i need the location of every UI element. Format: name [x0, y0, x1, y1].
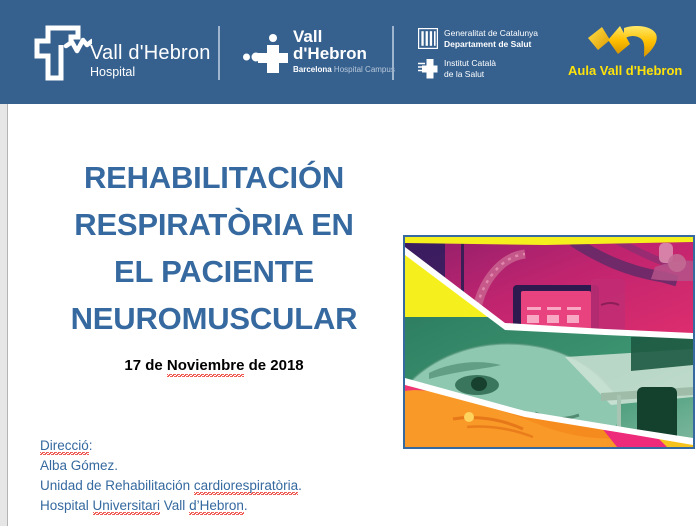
title-line-3: EL PACIENTE: [40, 248, 388, 295]
credits-text: Alba Gómez.: [40, 458, 118, 473]
document-left-gutter: [0, 104, 8, 526]
logo-ics-text: Institut Català de la Salut: [444, 58, 496, 79]
date-misspelled-word: Noviembre: [167, 357, 245, 377]
credits-text: .: [244, 498, 248, 513]
credits-misspelled-word: Direcció: [40, 438, 89, 455]
credits-text: .: [298, 478, 302, 493]
credits-line: Unidad de Rehabilitación cardiorespiratò…: [40, 476, 302, 496]
logo-vall-hebron-hospital: Vall d'Hebron Hospital: [32, 24, 204, 86]
credits-text: :: [89, 438, 93, 453]
date-prefix: 17 de: [124, 357, 167, 374]
logo-vhc-line2: d'Hebron: [293, 45, 367, 62]
dotted-cross-icon: [243, 32, 291, 76]
logo-vhc-sub-bold: Barcelona: [293, 65, 332, 74]
slide-canvas: REHABILITACIÓN RESPIRATÒRIA EN EL PACIEN…: [8, 104, 696, 526]
event-date: 17 de Noviembre de 2018: [40, 357, 388, 374]
torn-collage-photo: [403, 235, 695, 449]
credits-line: Hospital Universitari Vall d’Hebron.: [40, 496, 302, 516]
credits-text: Hospital: [40, 498, 93, 513]
logo-vhh-line2: Hospital: [90, 65, 135, 79]
logo-ics-line2: de la Salut: [444, 69, 484, 79]
logo-vhc-line1: Vall: [293, 28, 322, 45]
logo-institut-catala-salut: Institut Català de la Salut: [418, 58, 496, 79]
header-logo-bar: Vall d'Hebron Hospital Vall d'Hebron Bar…: [0, 0, 696, 104]
logo-vall-hebron-campus: Vall d'Hebron Barcelona Hospital Campus: [243, 26, 389, 82]
generalitat-bars-icon: [418, 28, 438, 49]
logo-vhc-subtitle: Barcelona Hospital Campus: [293, 65, 395, 74]
logo-separator-1: [218, 26, 220, 80]
logo-vhc-sub-light: Hospital Campus: [332, 65, 395, 74]
credits-misspelled-word: Universitari: [93, 498, 161, 515]
credits-misspelled-word: cardiorespiratòria: [194, 478, 298, 495]
credits-text: Unidad de Rehabilitación: [40, 478, 194, 493]
title-line-4: NEUROMUSCULAR: [40, 295, 388, 342]
logo-generalitat-line1: Generalitat de Catalunya: [444, 28, 538, 38]
logo-row: Vall d'Hebron Hospital Vall d'Hebron Bar…: [0, 0, 696, 104]
logo-generalitat: Generalitat de Catalunya Departament de …: [418, 28, 538, 49]
logo-generalitat-ics: Generalitat de Catalunya Departament de …: [418, 28, 568, 82]
logo-generalitat-text: Generalitat de Catalunya Departament de …: [444, 28, 538, 49]
aula-swoosh-icon: [586, 24, 660, 60]
credits-misspelled-word: d’Hebron: [189, 498, 244, 515]
title-line-1: REHABILITACIÓN: [40, 154, 388, 201]
date-suffix: de 2018: [244, 357, 303, 374]
credits-text: Vall: [160, 498, 189, 513]
credits-line: Direcció:: [40, 436, 302, 456]
credits-line: Alba Gómez.: [40, 456, 302, 476]
ics-cross-icon: [418, 58, 438, 79]
logo-vhh-line1: Vall d'Hebron: [90, 42, 211, 65]
logo-ics-line1: Institut Català: [444, 58, 496, 68]
logo-separator-2: [392, 26, 394, 80]
logo-aula-label: Aula Vall d'Hebron: [568, 63, 678, 78]
credits-block: Direcció:Alba Gómez.Unidad de Rehabilita…: [40, 436, 302, 516]
page-title: REHABILITACIÓN RESPIRATÒRIA EN EL PACIEN…: [40, 154, 388, 342]
title-line-2: RESPIRATÒRIA EN: [40, 201, 388, 248]
cross-pulse-icon: [32, 24, 92, 82]
logo-aula-vall-hebron: Aula Vall d'Hebron: [568, 24, 678, 84]
logo-generalitat-line2: Departament de Salut: [444, 39, 531, 49]
